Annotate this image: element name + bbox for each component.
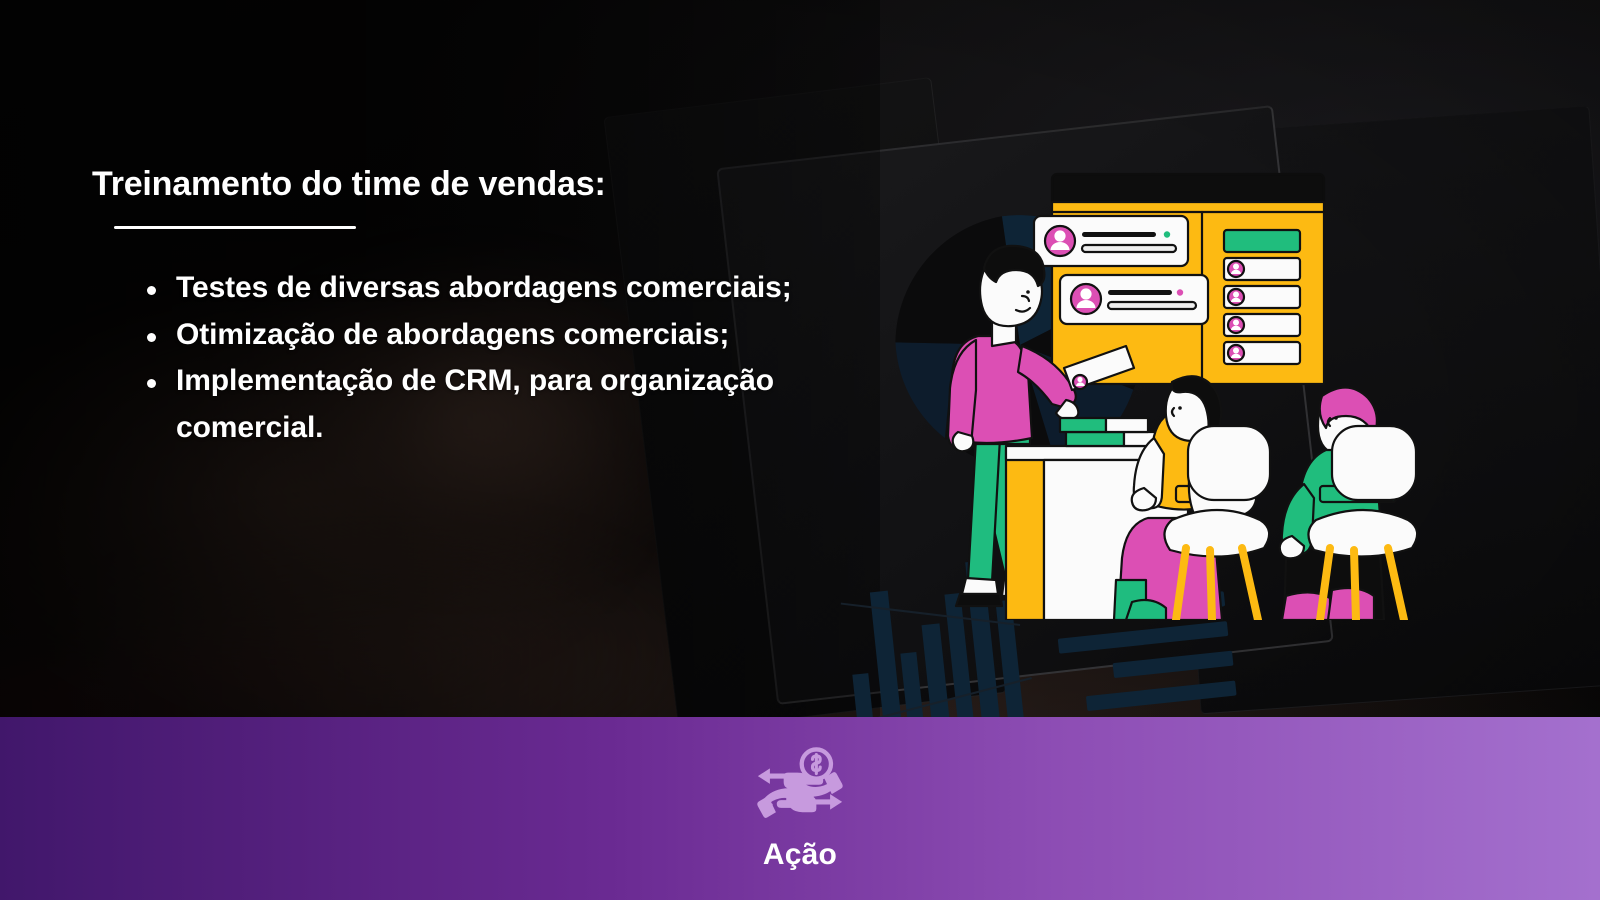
bullet-list: Testes de diversas abordagens comerciais… (142, 265, 792, 451)
footer-bar: Ação (0, 717, 1600, 900)
bullet-item-3: Implementação de CRM, para organização c… (142, 358, 792, 451)
title-underline (114, 226, 356, 229)
hands-exchange-money-box-icon (752, 746, 848, 832)
sales-team-training-illustration (880, 150, 1460, 620)
seated-woman-character (1114, 376, 1270, 620)
slide-title: Treinamento do time de vendas: (92, 165, 792, 204)
seated-man-character (1280, 387, 1417, 620)
bullet-item-2: Otimização de abordagens comerciais; (142, 312, 792, 359)
text-column: Treinamento do time de vendas: Testes de… (92, 165, 792, 451)
bullet-item-1: Testes de diversas abordagens comerciais… (142, 265, 792, 312)
footer-label: Ação (763, 838, 837, 872)
contact-card-1 (1034, 216, 1188, 266)
slide-root: Treinamento do time de vendas: Testes de… (0, 0, 1600, 900)
contact-card-2 (1060, 275, 1208, 324)
